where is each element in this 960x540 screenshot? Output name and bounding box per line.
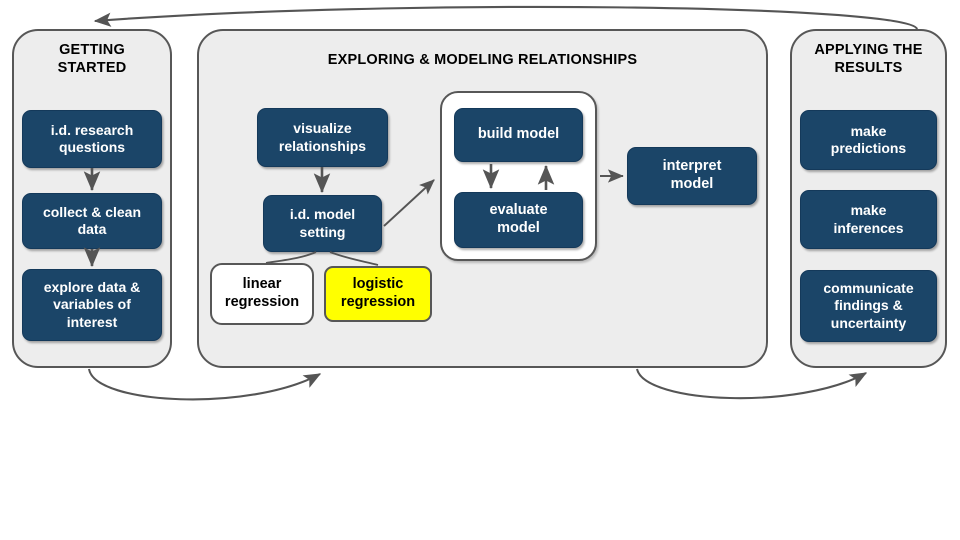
panel-title-line-1: GETTING	[59, 42, 125, 58]
node-communicate-findings[interactable]: communicate findings & uncertainty	[800, 270, 937, 342]
node-label: make inferences	[833, 202, 903, 236]
node-label: evaluate model	[489, 202, 547, 237]
node-build-model[interactable]: build model	[454, 108, 583, 162]
node-label: i.d. model setting	[290, 206, 355, 240]
node-id-research-questions[interactable]: i.d. research questions	[22, 110, 162, 168]
panel-title-line-2: RESULTS	[835, 60, 903, 76]
node-visualize-relationships[interactable]: visualize relationships	[257, 108, 388, 167]
node-label: build model	[478, 126, 559, 144]
panel-title-line-1: APPLYING THE	[814, 42, 922, 58]
node-label: explore data & variables of interest	[44, 279, 140, 330]
node-make-predictions[interactable]: make predictions	[800, 110, 937, 170]
node-label: communicate findings & uncertainty	[823, 280, 913, 331]
panel-title-applying-results: APPLYING THE RESULTS	[790, 42, 947, 77]
node-linear-regression[interactable]: linear regression	[210, 263, 314, 325]
node-label: visualize relationships	[279, 120, 366, 154]
node-explore-data[interactable]: explore data & variables of interest	[22, 269, 162, 341]
panel-title-exploring-modeling: EXPLORING & MODELING RELATIONSHIPS	[197, 52, 768, 70]
node-collect-clean-data[interactable]: collect & clean data	[22, 193, 162, 249]
node-label: i.d. research questions	[51, 122, 134, 156]
node-label: logistic regression	[341, 276, 415, 311]
node-label: collect & clean data	[43, 204, 141, 238]
node-id-model-setting[interactable]: i.d. model setting	[263, 195, 382, 252]
node-label: linear regression	[225, 276, 299, 311]
node-logistic-regression[interactable]: logistic regression	[324, 266, 432, 322]
panel-title-line-2: STARTED	[58, 60, 127, 76]
node-evaluate-model[interactable]: evaluate model	[454, 192, 583, 248]
edge-panel2-to-panel3	[637, 369, 866, 398]
diagram-canvas: GETTING STARTED i.d. research questions …	[0, 0, 960, 540]
node-interpret-model[interactable]: interpret model	[627, 147, 757, 205]
edge-panel1-to-panel2	[89, 369, 320, 399]
panel-title-text: EXPLORING & MODELING RELATIONSHIPS	[328, 52, 637, 68]
edge-panel3-to-panel1	[95, 7, 917, 29]
node-make-inferences[interactable]: make inferences	[800, 190, 937, 249]
panel-title-getting-started: GETTING STARTED	[12, 42, 172, 77]
node-label: interpret model	[663, 158, 722, 193]
node-label: make predictions	[831, 123, 906, 157]
